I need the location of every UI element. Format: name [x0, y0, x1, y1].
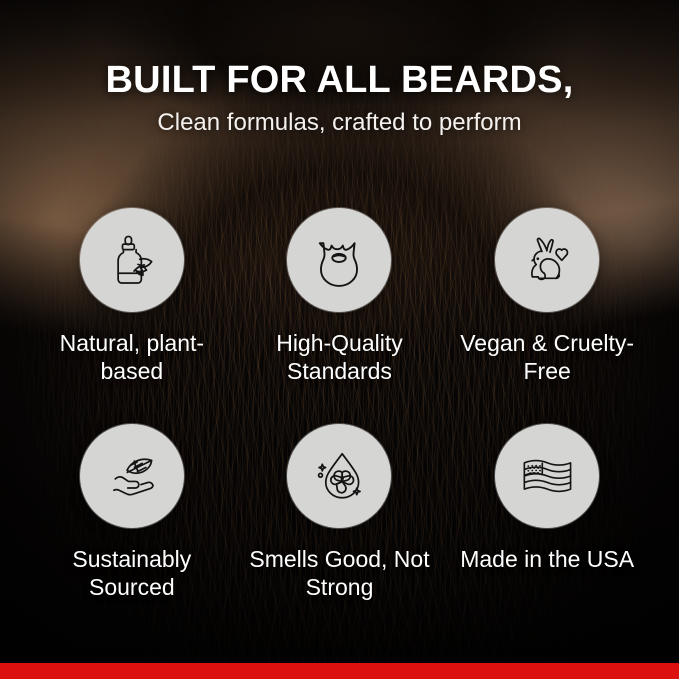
usa-flag-icon	[495, 424, 599, 528]
bottom-accent-bar	[0, 663, 679, 679]
feature-label: Smells Good, Not Strong	[244, 545, 434, 601]
feature-label: Sustainably Sourced	[37, 545, 227, 601]
feature-smells-good-not-strong: Smells Good, Not Strong	[236, 424, 444, 640]
feature-made-in-the-usa: Made in the USA	[443, 424, 651, 640]
beard-care-promo-banner: BUILT FOR ALL BEARDS, Clean formulas, cr…	[0, 0, 679, 679]
banner-title: BUILT FOR ALL BEARDS,	[0, 58, 679, 102]
feature-natural-plant-based: Natural, plant-based	[28, 208, 236, 424]
banner-subtitle: Clean formulas, crafted to perform	[0, 108, 679, 138]
hand-leaf-icon	[80, 424, 184, 528]
banner-heading-group: BUILT FOR ALL BEARDS, Clean formulas, cr…	[0, 58, 679, 138]
rabbit-heart-icon	[495, 208, 599, 312]
feature-grid: Natural, plant-based High-Quality Standa…	[28, 208, 651, 640]
droplet-flower-icon	[287, 424, 391, 528]
feature-vegan-cruelty-free: Vegan & Cruelty-Free	[443, 208, 651, 424]
feature-label: Natural, plant-based	[37, 329, 227, 385]
feature-label: High-Quality Standards	[244, 329, 434, 385]
dropper-bottle-leaf-icon	[80, 208, 184, 312]
feature-high-quality-standards: High-Quality Standards	[236, 208, 444, 424]
feature-label: Vegan & Cruelty-Free	[452, 329, 642, 385]
bearded-face-icon	[287, 208, 391, 312]
feature-sustainably-sourced: Sustainably Sourced	[28, 424, 236, 640]
feature-label: Made in the USA	[460, 545, 634, 573]
